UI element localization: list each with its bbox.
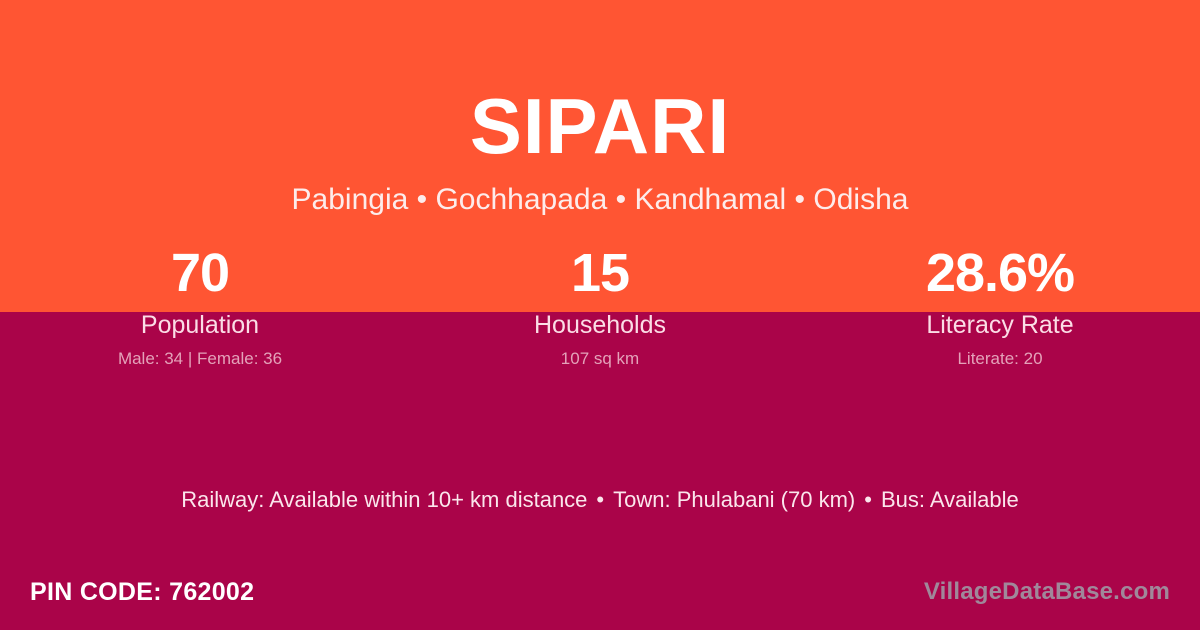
amenity-nearest-town: Town: Phulabani (70 km) bbox=[613, 487, 855, 512]
location-breadcrumb: Pabingia • Gochhapada • Kandhamal • Odis… bbox=[0, 180, 1200, 220]
amenity-railway: Railway: Available within 10+ km distanc… bbox=[181, 487, 587, 512]
stat-label: Literacy Rate bbox=[800, 310, 1200, 340]
stat-sublabel: Male: 34 | Female: 36 bbox=[0, 348, 400, 370]
stat-sublabel: Literate: 20 bbox=[800, 348, 1200, 370]
stat-label: Households bbox=[400, 310, 800, 340]
stat-value: 28.6% bbox=[800, 242, 1200, 304]
stat-value: 15 bbox=[400, 242, 800, 304]
stat-label: Population bbox=[0, 310, 400, 340]
stat-households: 15 Households 107 sq km bbox=[400, 242, 800, 370]
amenities-line: Railway: Available within 10+ km distanc… bbox=[0, 484, 1200, 516]
site-brand: VillageDataBase.com bbox=[924, 576, 1170, 608]
page-title: SIPARI bbox=[0, 84, 1200, 168]
amenity-separator: • bbox=[587, 484, 613, 516]
pin-code: PIN CODE: 762002 bbox=[30, 576, 254, 608]
stat-sublabel: 107 sq km bbox=[400, 348, 800, 370]
stat-literacy-rate: 28.6% Literacy Rate Literate: 20 bbox=[800, 242, 1200, 370]
stat-population: 70 Population Male: 34 | Female: 36 bbox=[0, 242, 400, 370]
card-footer: PIN CODE: 762002 VillageDataBase.com bbox=[0, 572, 1200, 612]
stats-row: 70 Population Male: 34 | Female: 36 15 H… bbox=[0, 242, 1200, 370]
village-info-card: SIPARI Pabingia • Gochhapada • Kandhamal… bbox=[0, 0, 1200, 630]
stat-value: 70 bbox=[0, 242, 400, 304]
amenity-separator: • bbox=[855, 484, 881, 516]
amenity-bus: Bus: Available bbox=[881, 487, 1019, 512]
